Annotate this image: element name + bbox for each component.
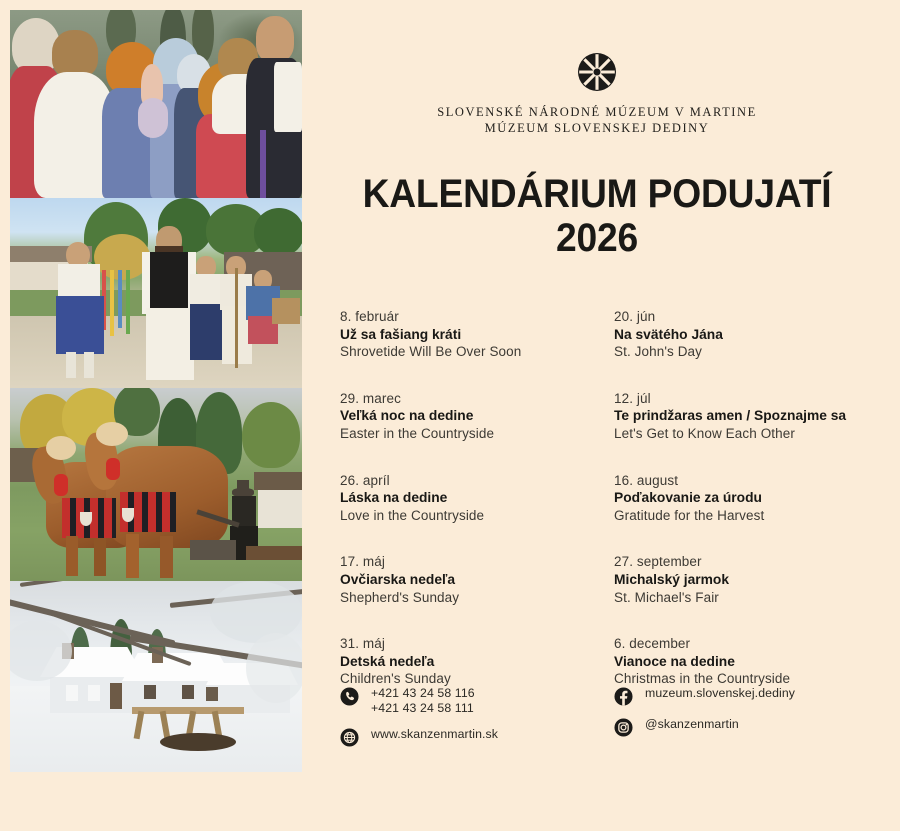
contact-phone[interactable]: +421 43 24 58 116 +421 43 24 58 111 (340, 686, 580, 716)
event-item: 17. máj Ovčiarska nedeľa Shepherd's Sund… (340, 555, 580, 604)
contact-column-right: muzeum.slovenskej.dediny @skanzenmartin (614, 686, 854, 747)
photo-strip (10, 10, 302, 772)
event-item: 29. marec Veľká noc na dedine Easter in … (340, 392, 580, 441)
phone-numbers: +421 43 24 58 116 +421 43 24 58 111 (371, 686, 475, 716)
contact-instagram[interactable]: @skanzenmartin (614, 717, 854, 737)
contact-footer: +421 43 24 58 116 +421 43 24 58 111 (340, 686, 854, 831)
phone-number-1: +421 43 24 58 116 (371, 686, 475, 701)
event-title-sk: Na svätého Jána (614, 328, 854, 342)
museum-name-line2: MÚZEUM SLOVENSKEJ DEDINY (340, 121, 854, 137)
phone-icon (340, 687, 359, 706)
event-calendar-poster: SLOVENSKÉ NÁRODNÉ MÚZEUM V MARTINE MÚZEU… (0, 0, 900, 782)
event-date: 12. júl (614, 392, 854, 406)
event-date: 20. jún (614, 310, 854, 324)
photo-horses-ploughing (10, 388, 302, 581)
event-title-en: Easter in the Countryside (340, 427, 580, 441)
event-date: 17. máj (340, 555, 580, 569)
event-title-sk: Poďakovanie za úrodu (614, 491, 854, 505)
event-item: 31. máj Detská nedeľa Children's Sunday (340, 637, 580, 686)
event-date: 27. september (614, 555, 854, 569)
museum-name-line1: SLOVENSKÉ NÁRODNÉ MÚZEUM V MARTINE (340, 105, 854, 121)
event-title-sk: Vianoce na dedine (614, 655, 854, 669)
event-item: 26. apríl Láska na dedine Love in the Co… (340, 474, 580, 523)
event-title-en: St. Michael's Fair (614, 591, 854, 605)
poster-content: SLOVENSKÉ NÁRODNÉ MÚZEUM V MARTINE MÚZEU… (302, 0, 900, 782)
event-date: 6. december (614, 637, 854, 651)
event-item: 6. december Vianoce na dedine Christmas … (614, 637, 854, 686)
event-item: 12. júl Te prindžaras amen / Spoznajme s… (614, 392, 854, 441)
event-title-en: Children's Sunday (340, 672, 580, 686)
photo-winter-village (10, 581, 302, 772)
event-title-en: St. John's Day (614, 345, 854, 359)
website-url: www.skanzenmartin.sk (371, 727, 498, 742)
event-title-sk: Láska na dedine (340, 491, 580, 505)
photo-harvest-procession (10, 198, 302, 388)
museum-branding: SLOVENSKÉ NÁRODNÉ MÚZEUM V MARTINE MÚZEU… (340, 0, 854, 136)
event-title-sk: Veľká noc na dedine (340, 409, 580, 423)
event-item: 16. august Poďakovanie za úrodu Gratitud… (614, 474, 854, 523)
facebook-icon (614, 687, 633, 706)
facebook-handle: muzeum.slovenskej.dediny (645, 686, 795, 701)
page-title: KALENDÁRIUM PODUJATÍ 2026 (358, 172, 836, 260)
event-title-sk: Už sa fašiang kráti (340, 328, 580, 342)
eight-point-star-roundel-icon (577, 52, 617, 92)
event-item: 27. september Michalský jarmok St. Micha… (614, 555, 854, 604)
event-title-en: Let's Get to Know Each Other (614, 427, 854, 441)
events-grid: 8. február Už sa fašiang kráti Shrovetid… (340, 310, 854, 686)
event-title-sk: Te prindžaras amen / Spoznajme sa (614, 409, 854, 423)
photo-children-folk-costumes (10, 10, 302, 198)
event-title-en: Shepherd's Sunday (340, 591, 580, 605)
contact-website[interactable]: www.skanzenmartin.sk (340, 727, 580, 747)
contact-column-left: +421 43 24 58 116 +421 43 24 58 111 (340, 686, 580, 747)
event-title-sk: Detská nedeľa (340, 655, 580, 669)
instagram-handle: @skanzenmartin (645, 717, 739, 732)
event-date: 31. máj (340, 637, 580, 651)
event-date: 8. február (340, 310, 580, 324)
event-date: 16. august (614, 474, 854, 488)
contact-facebook[interactable]: muzeum.slovenskej.dediny (614, 686, 854, 706)
event-title-sk: Ovčiarska nedeľa (340, 573, 580, 587)
event-title-sk: Michalský jarmok (614, 573, 854, 587)
instagram-icon (614, 718, 633, 737)
event-item: 8. február Už sa fašiang kráti Shrovetid… (340, 310, 580, 359)
event-title-en: Love in the Countryside (340, 509, 580, 523)
event-title-en: Shrovetide Will Be Over Soon (340, 345, 580, 359)
event-date: 26. apríl (340, 474, 580, 488)
event-item: 20. jún Na svätého Jána St. John's Day (614, 310, 854, 359)
phone-number-2: +421 43 24 58 111 (371, 701, 475, 716)
event-title-en: Christmas in the Countryside (614, 672, 854, 686)
globe-icon (340, 728, 359, 747)
event-title-en: Gratitude for the Harvest (614, 509, 854, 523)
event-date: 29. marec (340, 392, 580, 406)
